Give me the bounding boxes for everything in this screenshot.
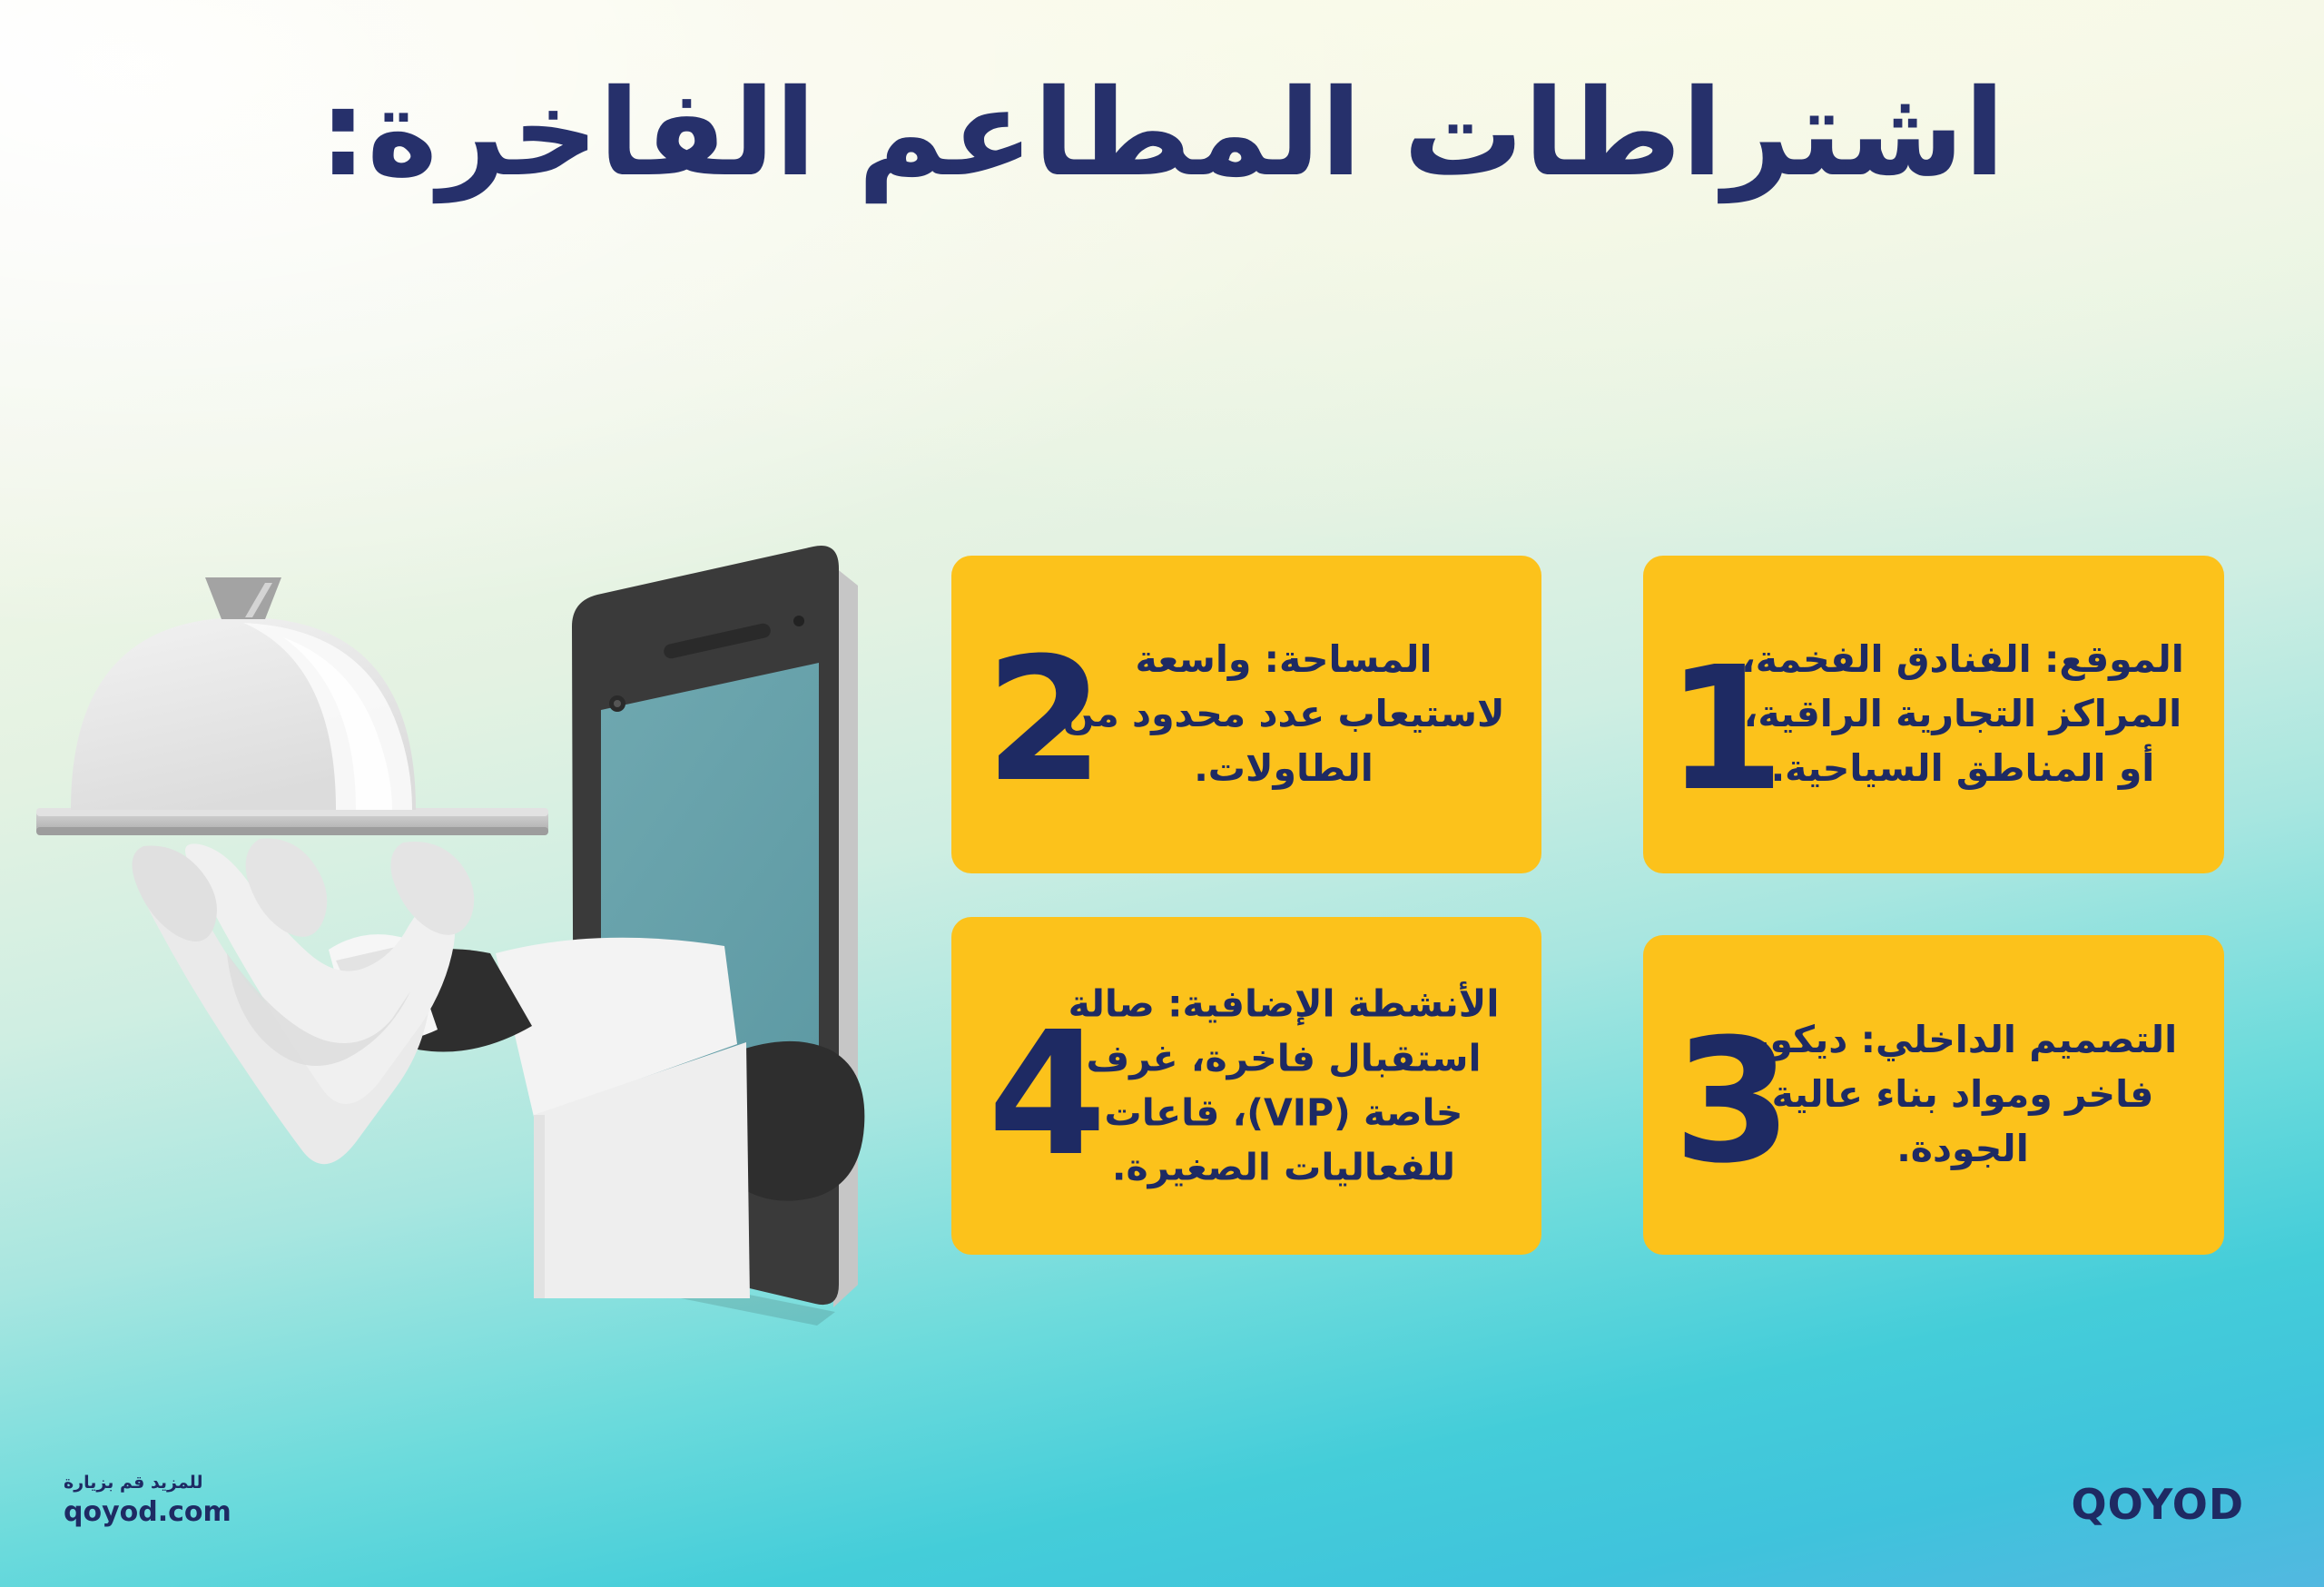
qoyod-logo-text: QOYOD	[2071, 1480, 2244, 1529]
requirements-card-grid: الموقع: الفنادق الفخمة، المراكز التجارية…	[935, 556, 2224, 1264]
napkin	[496, 938, 750, 1298]
page-title: اشتراطات المطاعم الفاخرة:	[73, 65, 2251, 203]
card-1-number: 1	[1666, 645, 1781, 815]
footer-note: للمزيد قم بزيارة qoyod.com	[64, 1472, 231, 1531]
footer-website-url[interactable]: qoyod.com	[64, 1494, 231, 1531]
infographic-canvas: اشتراطات المطاعم الفاخرة:	[0, 0, 2324, 1587]
serving-tray	[36, 808, 548, 835]
card-2-text: المساحة: واسعة لاستيعاب عدد محدود من الط…	[1059, 633, 1509, 796]
illustration-waiter-phone	[36, 390, 962, 1362]
card-2-number: 2	[985, 636, 1100, 806]
card-1-text: الموقع: الفنادق الفخمة، المراكز التجارية…	[1741, 633, 2184, 796]
card-4-text: الأنشطة الإضافية: صالة استقبال فاخرة، غر…	[1059, 977, 1509, 1194]
card-3-text: التصميم الداخلي: ديكور فاخر ومواد بناء ع…	[1741, 1013, 2184, 1177]
qoyod-logo: QOYOD	[2071, 1480, 2244, 1529]
gloved-hand	[133, 839, 475, 1165]
card-4-number: 4	[988, 1010, 1103, 1180]
footer-note-label: للمزيد قم بزيارة	[64, 1472, 231, 1494]
cloche-dome	[71, 577, 416, 810]
card-3-number: 3	[1673, 1017, 1788, 1188]
